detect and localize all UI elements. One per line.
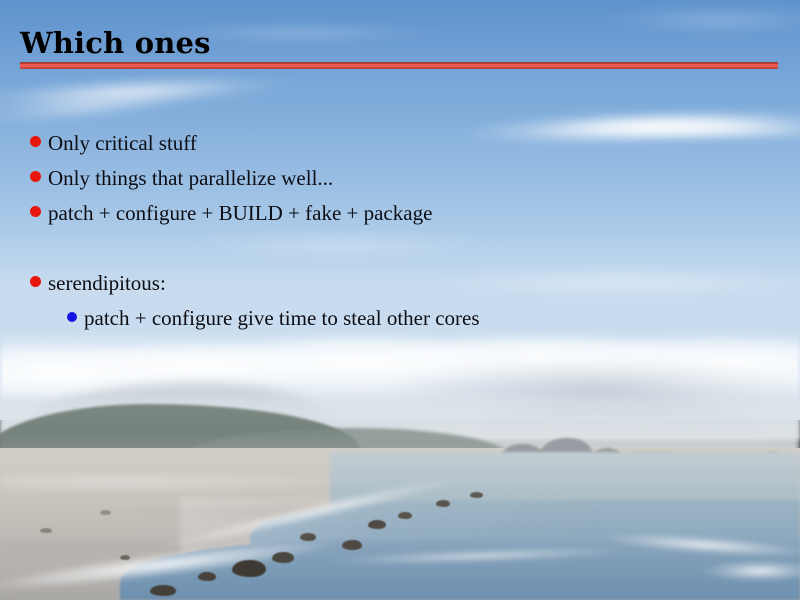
slide-body-bullet-list: Only critical stuff Only things that par… xyxy=(30,126,780,336)
shoreline-rock xyxy=(40,528,52,533)
slide-title: Which ones xyxy=(20,26,211,60)
shoreline-rock xyxy=(470,492,483,498)
shoreline-rock xyxy=(436,500,450,507)
shoreline-rock xyxy=(398,512,412,519)
shoreline-rock xyxy=(120,555,130,560)
bullet-item[interactable]: serendipitous: xyxy=(30,266,780,301)
sub-bullet-text: patch + configure give time to steal oth… xyxy=(84,301,480,336)
shoreline-rock xyxy=(368,520,386,529)
shoreline-rock xyxy=(100,510,111,515)
sub-bullet-item[interactable]: patch + configure give time to steal oth… xyxy=(67,301,780,336)
bullet-text: patch + configure + BUILD + fake + packa… xyxy=(48,196,432,231)
shoreline-rock xyxy=(272,552,294,563)
bullet-item[interactable]: patch + configure + BUILD + fake + packa… xyxy=(30,196,780,231)
bullet-dot-icon xyxy=(30,171,41,182)
title-underline-rule xyxy=(20,62,778,69)
bullet-text: serendipitous: xyxy=(48,266,166,301)
bullet-item[interactable]: Only critical stuff xyxy=(30,126,780,161)
sub-bullet-dot-icon xyxy=(67,312,77,322)
shoreline-rock xyxy=(150,585,176,596)
presentation-slide: Which ones Only critical stuff Only thin… xyxy=(0,0,800,600)
bullet-text: Only critical stuff xyxy=(48,126,197,161)
bullet-dot-icon xyxy=(30,136,41,147)
bullet-text: Only things that parallelize well... xyxy=(48,161,333,196)
breaking-surf xyxy=(700,556,800,586)
cloud-wisp-top-right xyxy=(590,0,800,40)
shoreline-rock xyxy=(342,540,362,550)
bullet-item[interactable]: Only things that parallelize well... xyxy=(30,161,780,196)
bullet-dot-icon xyxy=(30,276,41,287)
shoreline-rock xyxy=(300,533,316,541)
bullet-spacer xyxy=(30,231,780,266)
shoreline-rock xyxy=(198,572,216,581)
bullet-dot-icon xyxy=(30,206,41,217)
shoreline-rock xyxy=(232,560,266,577)
